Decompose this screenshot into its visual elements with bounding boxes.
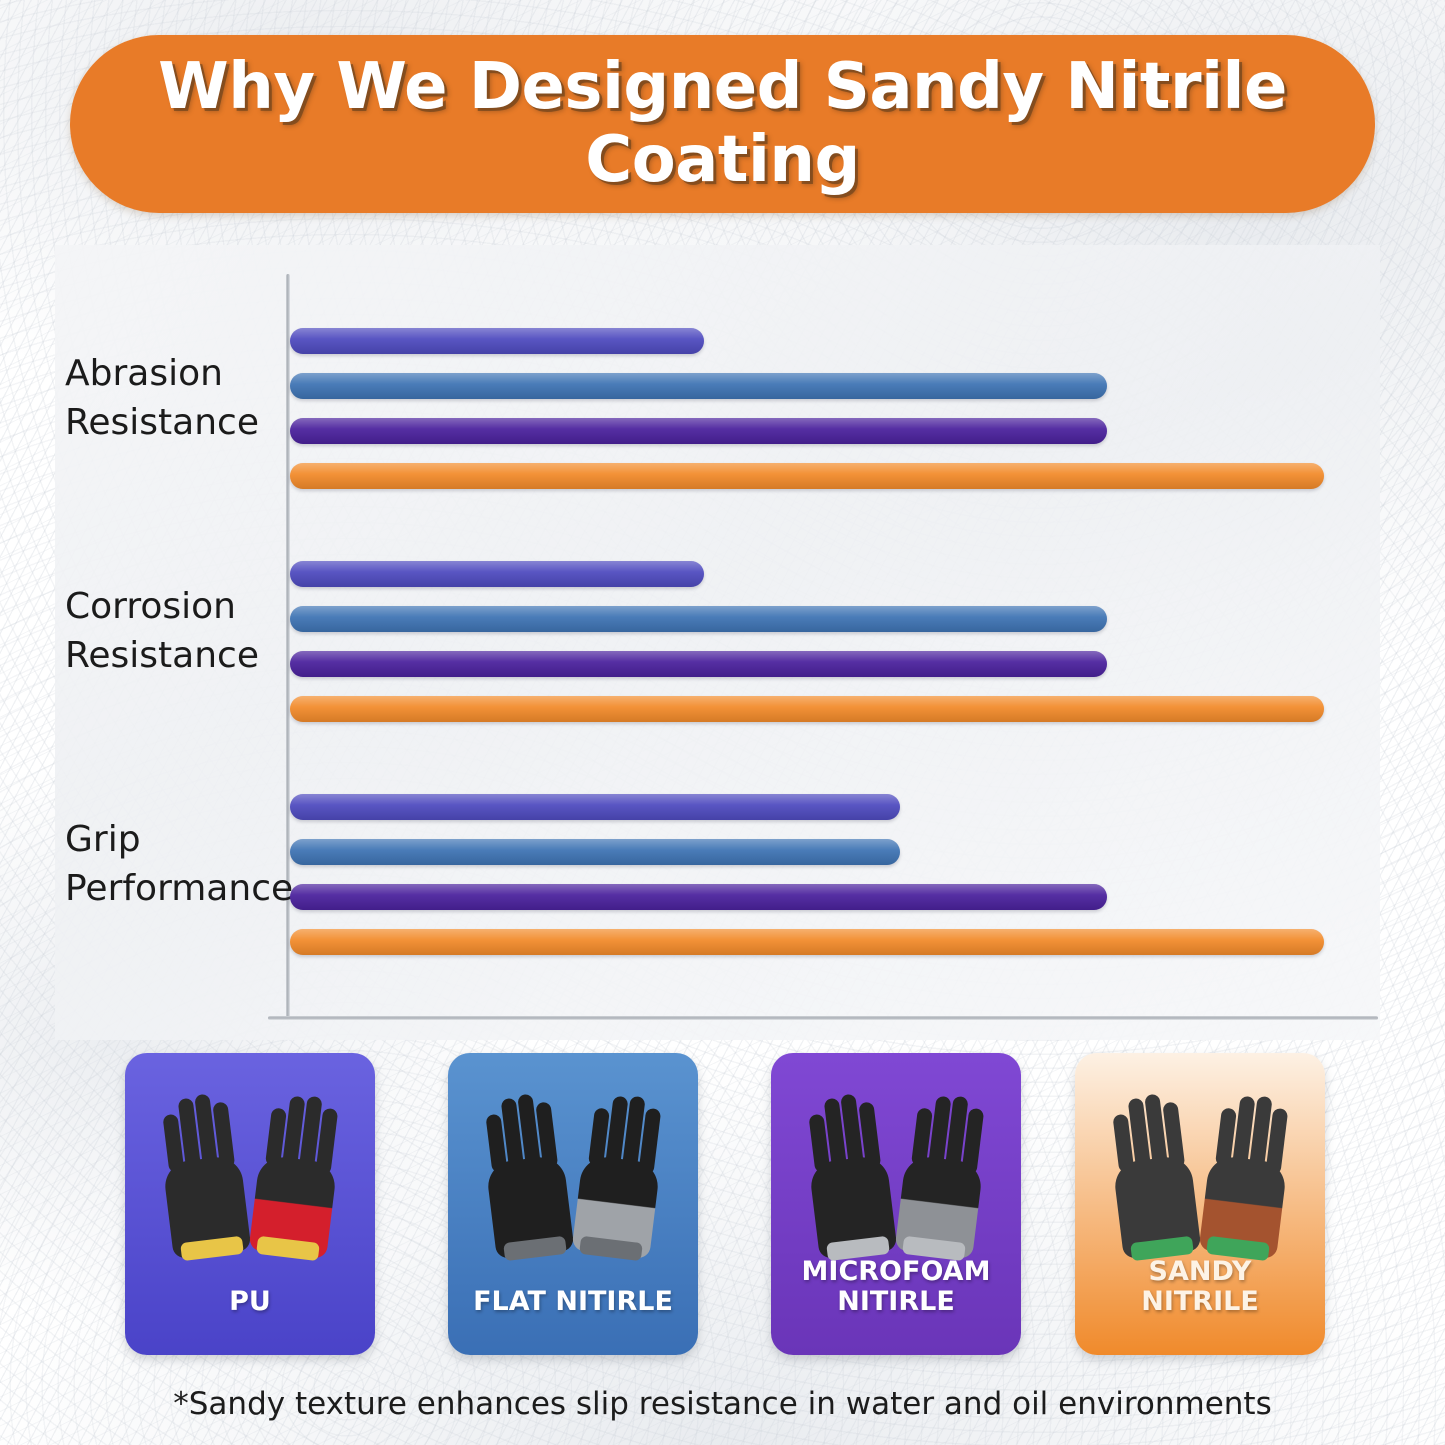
chart-category-label: Grip Performance <box>65 816 277 914</box>
chart-bar <box>290 651 1107 677</box>
legend-card-flat-nitirle[interactable]: FLAT NITIRLE <box>448 1053 698 1355</box>
chart-bar <box>290 929 1324 955</box>
chart-bar <box>290 328 704 354</box>
legend-card-label: SANDY NITRILE <box>1135 1257 1265 1355</box>
chart-bar <box>290 606 1107 632</box>
page-title: Why We Designed Sandy Nitrile Coating <box>70 51 1375 197</box>
glove-icon <box>1075 1067 1325 1262</box>
legend-card-label: MICROFOAM NITIRLE <box>796 1257 997 1355</box>
legend-card-label: PU <box>223 1287 277 1355</box>
legend-card-label: FLAT NITIRLE <box>467 1287 679 1355</box>
chart-bar <box>290 884 1107 910</box>
chart-category-label: Abrasion Resistance <box>65 350 277 448</box>
glove-icon <box>125 1067 375 1262</box>
chart-bar <box>290 463 1324 489</box>
legend-card-microfoam-nitirle[interactable]: MICROFOAM NITIRLE <box>771 1053 1021 1355</box>
legend-card-row: PUFLAT NITIRLEMICROFOAM NITIRLESANDY NIT… <box>125 1053 1325 1358</box>
chart-x-axis <box>268 1016 1378 1020</box>
legend-card-sandy-nitrile[interactable]: SANDY NITRILE <box>1075 1053 1325 1355</box>
chart-bar <box>290 373 1107 399</box>
glove-icon <box>771 1067 1021 1262</box>
glove-icon <box>448 1067 698 1262</box>
comparison-bar-chart: Abrasion ResistanceCorrosion ResistanceG… <box>55 245 1380 1040</box>
title-banner: Why We Designed Sandy Nitrile Coating <box>70 35 1375 213</box>
chart-bar <box>290 561 704 587</box>
footnote: *Sandy texture enhances slip resistance … <box>0 1386 1445 1422</box>
chart-bar <box>290 839 900 865</box>
chart-bar <box>290 794 900 820</box>
chart-bar <box>290 696 1324 722</box>
infographic-page: Why We Designed Sandy Nitrile Coating Ab… <box>0 0 1445 1445</box>
chart-category-label: Corrosion Resistance <box>65 583 277 681</box>
legend-card-pu[interactable]: PU <box>125 1053 375 1355</box>
chart-bar <box>290 418 1107 444</box>
